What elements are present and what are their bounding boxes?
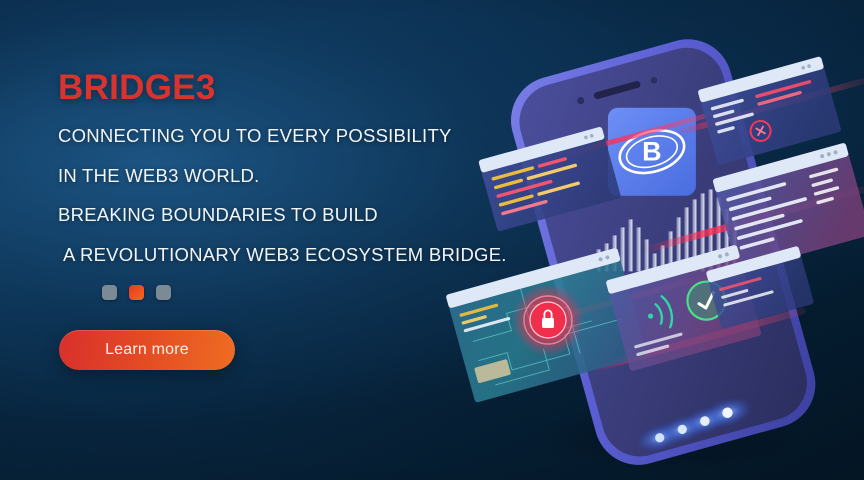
carousel-dot-1[interactable] [102, 285, 117, 300]
tagline-line-3: BREAKING BOUNDARIES TO BUILD [58, 206, 558, 225]
page-title: BRIDGE3 [58, 70, 558, 105]
svg-text:B: B [642, 137, 662, 167]
carousel-dot-3[interactable] [156, 285, 171, 300]
tagline-line-2: IN THE WEB3 WORLD. [58, 167, 558, 186]
tagline-line-4: A REVOLUTIONARY WEB3 ECOSYSTEM BRIDGE. [58, 246, 558, 265]
learn-more-button[interactable]: Learn more [59, 330, 235, 370]
carousel-dots [102, 285, 558, 300]
hero-banner: B [0, 0, 864, 480]
tagline-line-1: CONNECTING YOU TO EVERY POSSIBILITY [58, 127, 558, 146]
carousel-dot-2[interactable] [129, 285, 144, 300]
hero-copy: BRIDGE3 CONNECTING YOU TO EVERY POSSIBIL… [58, 70, 558, 370]
tagline: CONNECTING YOU TO EVERY POSSIBILITY IN T… [58, 127, 558, 264]
